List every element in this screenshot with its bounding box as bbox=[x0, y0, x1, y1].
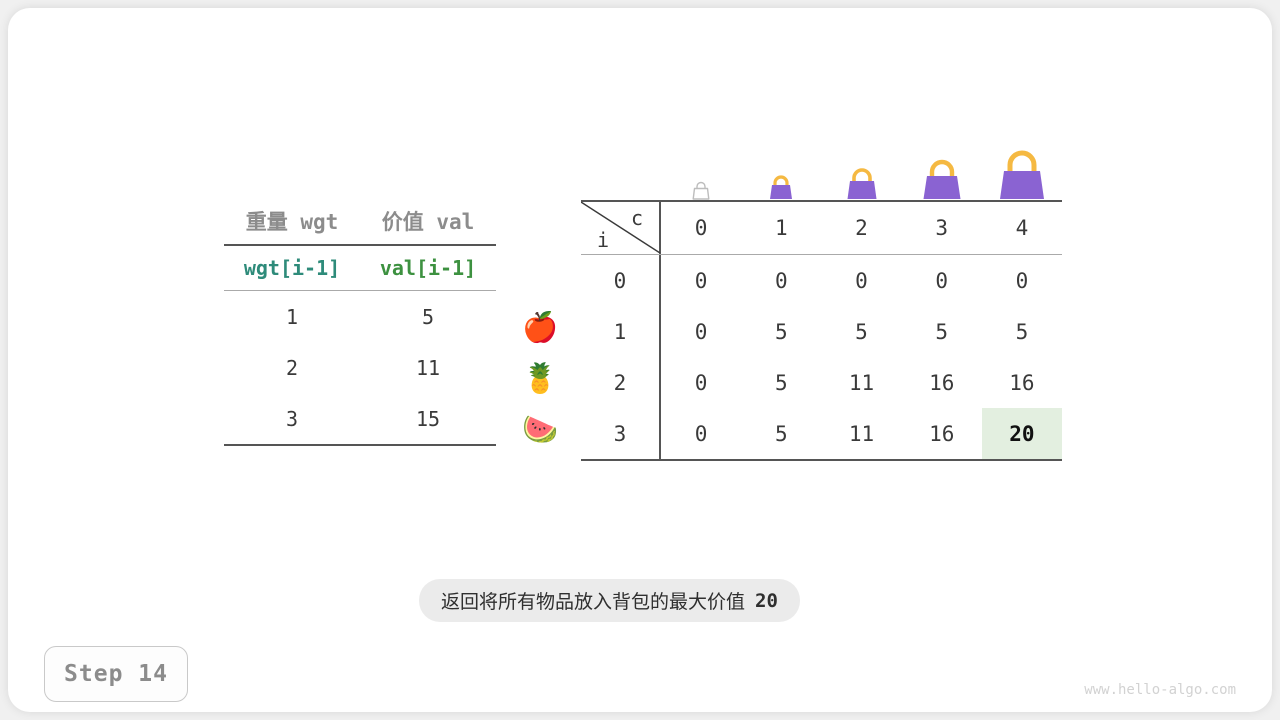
items-table: 重量 wgt 价值 val wgt[i-1] val[i-1] 1 5 2 bbox=[224, 198, 496, 446]
bag-icon-2 bbox=[821, 134, 901, 200]
dp-cell: 5 bbox=[741, 357, 821, 408]
dp-row-index: 2 bbox=[581, 357, 661, 408]
dp-capacity-header: 2 bbox=[821, 202, 901, 254]
step-badge-label: Step 14 bbox=[64, 661, 168, 687]
dp-cell-value: 5 bbox=[775, 320, 788, 344]
dp-row-index-label: 0 bbox=[614, 269, 627, 293]
dp-cell-value: 0 bbox=[1016, 269, 1029, 293]
dp-cell: 5 bbox=[982, 306, 1062, 357]
dp-row-index-label: 3 bbox=[614, 422, 627, 446]
bag-icon-1 bbox=[741, 134, 821, 200]
dp-capacity-header: 0 bbox=[661, 202, 741, 254]
dp-capacity-label: 3 bbox=[935, 216, 948, 240]
item-weight-cell: 1 bbox=[224, 305, 360, 329]
dp-cell: 0 bbox=[661, 255, 741, 306]
dp-row-cells: 0 5 11 16 20 bbox=[661, 408, 1062, 459]
dp-cell-value: 20 bbox=[1009, 422, 1034, 446]
item-weight-value: 2 bbox=[286, 356, 298, 380]
dp-table: c i 0 1 2 3 4 0 0 0 0 0 0 1 bbox=[581, 200, 1062, 461]
dp-capacity-label: 1 bbox=[775, 216, 788, 240]
item-value-cell: 5 bbox=[360, 305, 496, 329]
dp-cell: 16 bbox=[902, 408, 982, 459]
dp-cell-value: 5 bbox=[855, 320, 868, 344]
item-value-value: 11 bbox=[416, 356, 440, 380]
dp-capacity-header: 3 bbox=[902, 202, 982, 254]
items-subheader-weight: wgt[i-1] bbox=[224, 256, 360, 280]
bag-icon-4 bbox=[982, 134, 1062, 200]
dp-row-index: 1 bbox=[581, 306, 661, 357]
dp-cell-value: 0 bbox=[695, 422, 708, 446]
item-value-value: 15 bbox=[416, 407, 440, 431]
page-card: 重量 wgt 价值 val wgt[i-1] val[i-1] 1 5 2 bbox=[8, 8, 1272, 712]
dp-capacity-label: 0 bbox=[695, 216, 708, 240]
dp-cell-value: 5 bbox=[1016, 320, 1029, 344]
dp-capacity-header: 4 bbox=[982, 202, 1062, 254]
items-header-value-label: 价值 val bbox=[382, 210, 475, 234]
dp-capacity-label: 4 bbox=[1016, 216, 1029, 240]
dp-corner-col-label: c bbox=[631, 206, 643, 230]
caption-value: 20 bbox=[755, 590, 778, 612]
caption-text: 返回将所有物品放入背包的最大价值 bbox=[441, 587, 745, 614]
dp-cell: 0 bbox=[821, 255, 901, 306]
items-header-value: 价值 val bbox=[360, 206, 496, 236]
items-subheader-weight-label: wgt[i-1] bbox=[244, 256, 340, 280]
bag-capacity-icons bbox=[661, 134, 1062, 200]
table-row: 1 0 5 5 5 5 bbox=[581, 306, 1062, 357]
dp-cell-value: 0 bbox=[775, 269, 788, 293]
dp-cell-value: 5 bbox=[775, 422, 788, 446]
dp-cell-highlighted: 20 bbox=[982, 408, 1062, 459]
item-weight-cell: 2 bbox=[224, 356, 360, 380]
dp-capacity-header-cells: 0 1 2 3 4 bbox=[661, 202, 1062, 254]
item-weight-value: 1 bbox=[286, 305, 298, 329]
dp-cell: 5 bbox=[902, 306, 982, 357]
item-value-cell: 11 bbox=[360, 356, 496, 380]
dp-cell-value: 0 bbox=[935, 269, 948, 293]
dp-cell-value: 0 bbox=[695, 320, 708, 344]
items-table-subheader-row: wgt[i-1] val[i-1] bbox=[224, 246, 496, 291]
dp-cell-value: 0 bbox=[855, 269, 868, 293]
dp-cell: 0 bbox=[661, 306, 741, 357]
item-weight-cell: 3 bbox=[224, 407, 360, 431]
dp-cell: 0 bbox=[902, 255, 982, 306]
fruit-icon-column: 🍎 🍍 🍉 bbox=[516, 302, 564, 455]
bag-icon-0 bbox=[661, 134, 741, 200]
dp-cell-value: 16 bbox=[929, 422, 954, 446]
dp-cell-value: 5 bbox=[775, 371, 788, 395]
dp-cell-value: 16 bbox=[929, 371, 954, 395]
table-row: 3 0 5 11 16 20 bbox=[581, 408, 1062, 459]
dp-cell-value: 0 bbox=[695, 371, 708, 395]
dp-cell: 0 bbox=[661, 408, 741, 459]
dp-cell: 0 bbox=[661, 357, 741, 408]
table-row: 1 5 bbox=[224, 291, 496, 342]
table-row: 2 0 5 11 16 16 bbox=[581, 357, 1062, 408]
items-header-weight: 重量 wgt bbox=[224, 206, 360, 236]
dp-cell: 0 bbox=[741, 255, 821, 306]
apple-icon: 🍎 bbox=[516, 302, 564, 353]
items-header-weight-label: 重量 wgt bbox=[246, 210, 339, 234]
bag-icon-3 bbox=[902, 134, 982, 200]
dp-row-index-label: 2 bbox=[614, 371, 627, 395]
dp-row-index: 0 bbox=[581, 255, 661, 306]
dp-cell: 16 bbox=[902, 357, 982, 408]
items-subheader-value: val[i-1] bbox=[360, 256, 496, 280]
dp-row-index: 3 bbox=[581, 408, 661, 459]
dp-capacity-label: 2 bbox=[855, 216, 868, 240]
dp-cell-value: 16 bbox=[1009, 371, 1034, 395]
item-weight-value: 3 bbox=[286, 407, 298, 431]
dp-cell: 0 bbox=[982, 255, 1062, 306]
table-row: 2 11 bbox=[224, 342, 496, 393]
dp-table-header-row: c i 0 1 2 3 4 bbox=[581, 202, 1062, 255]
dp-row-cells: 0 5 5 5 5 bbox=[661, 306, 1062, 357]
dp-cell-value: 11 bbox=[849, 422, 874, 446]
diagonal-divider-icon bbox=[581, 202, 661, 253]
item-value-value: 5 bbox=[422, 305, 434, 329]
step-badge: Step 14 bbox=[44, 646, 188, 702]
dp-cell-value: 11 bbox=[849, 371, 874, 395]
watermelon-icon: 🍉 bbox=[516, 404, 564, 455]
dp-capacity-header: 1 bbox=[741, 202, 821, 254]
caption-pill: 返回将所有物品放入背包的最大价值 20 bbox=[419, 579, 800, 622]
dp-row-index-label: 1 bbox=[614, 320, 627, 344]
items-table-header-row: 重量 wgt 价值 val bbox=[224, 198, 496, 246]
dp-cell: 5 bbox=[821, 306, 901, 357]
dp-cell: 5 bbox=[741, 306, 821, 357]
table-row: 0 0 0 0 0 0 bbox=[581, 255, 1062, 306]
item-value-cell: 15 bbox=[360, 407, 496, 431]
dp-cell: 5 bbox=[741, 408, 821, 459]
dp-cell-value: 0 bbox=[695, 269, 708, 293]
dp-row-cells: 0 5 11 16 16 bbox=[661, 357, 1062, 408]
dp-corner-row-label: i bbox=[597, 228, 609, 252]
dp-table-corner-cell: c i bbox=[581, 202, 661, 254]
dp-row-cells: 0 0 0 0 0 bbox=[661, 255, 1062, 306]
pineapple-icon: 🍍 bbox=[516, 353, 564, 404]
items-subheader-value-label: val[i-1] bbox=[380, 256, 476, 280]
dp-cell: 11 bbox=[821, 408, 901, 459]
watermark: www.hello-algo.com bbox=[1084, 682, 1236, 698]
dp-cell: 11 bbox=[821, 357, 901, 408]
dp-cell-value: 5 bbox=[935, 320, 948, 344]
dp-cell: 16 bbox=[982, 357, 1062, 408]
table-row: 3 15 bbox=[224, 393, 496, 446]
